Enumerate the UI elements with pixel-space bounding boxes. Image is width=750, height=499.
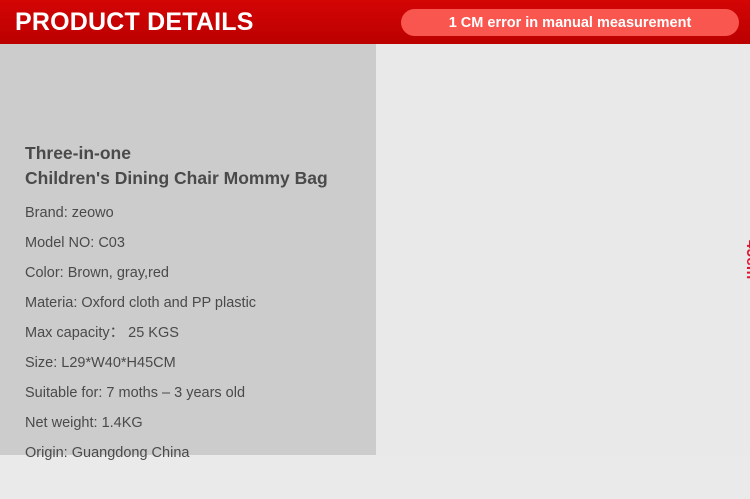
dimension-annotations (376, 44, 750, 499)
height-dimension-label: 45cm (743, 240, 750, 280)
spec-list: Brand: zeowo Model NO: C03 Color: Brown,… (25, 198, 370, 468)
product-name-line-1: Three-in-one (25, 141, 370, 166)
list-item: Max capacity： 25 KGS (25, 318, 370, 348)
list-item: Size: L29*W40*H45CM (25, 348, 370, 378)
spec-panel: Three-in-one Children's Dining Chair Mom… (0, 44, 376, 455)
list-item: Materia: Oxford cloth and PP plastic (25, 288, 370, 318)
measurement-note-label: 1 CM error in manual measurement (449, 15, 692, 31)
product-details-page: PRODUCT DETAILS 1 CM error in manual mea… (0, 0, 750, 455)
list-item: Suitable for: 7 moths – 3 years old (25, 378, 370, 408)
photo-panel: ZEOWO 45cm 29cm 40cm 12cm (376, 44, 750, 455)
page-title: PRODUCT DETAILS (15, 7, 254, 37)
list-item: Color: Brown, gray,red (25, 258, 370, 288)
measurement-note-badge: 1 CM error in manual measurement (401, 9, 739, 36)
list-item: Net weight: 1.4KG (25, 408, 370, 438)
list-item: Model NO: C03 (25, 228, 370, 258)
spec-block: Three-in-one Children's Dining Chair Mom… (25, 141, 370, 468)
list-item: Brand: zeowo (25, 198, 370, 228)
header-bar: PRODUCT DETAILS 1 CM error in manual mea… (0, 0, 750, 44)
list-item: Origin: Guangdong China (25, 438, 370, 468)
product-name-line-2: Children's Dining Chair Mommy Bag (25, 166, 370, 191)
